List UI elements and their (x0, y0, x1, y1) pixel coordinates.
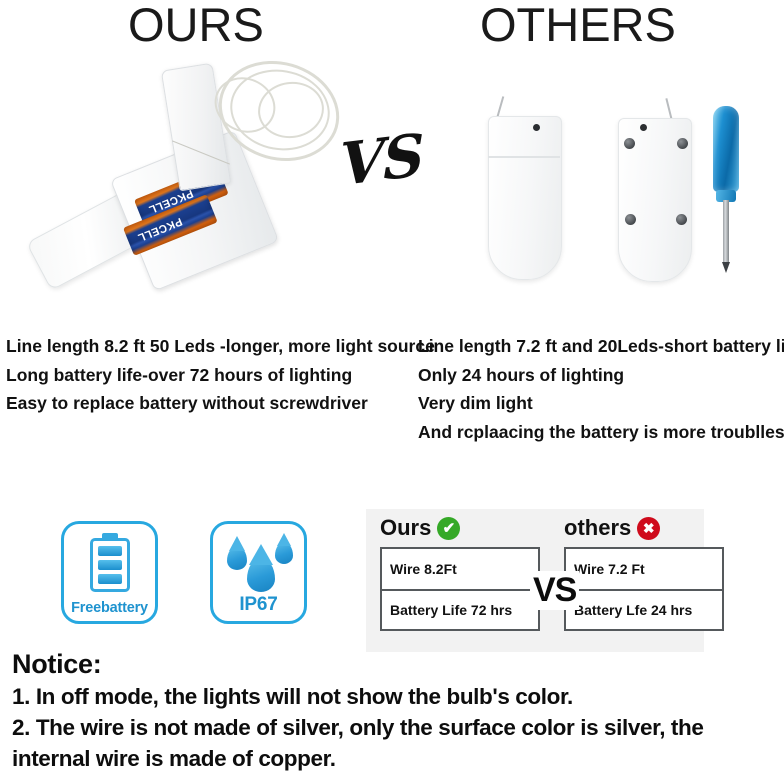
case-screw-bottom-left (625, 214, 636, 225)
feature-others-1: Line length 7.2 ft and 20Leds-short batt… (418, 332, 784, 361)
table-row: Wire 8.2Ft (382, 549, 538, 589)
comparison-others-label: others (564, 515, 631, 541)
case-screw-top-right (677, 138, 688, 149)
comparison-panel: Ours ✔ others ✖ Wire 8.2Ft Battery Life … (366, 509, 704, 652)
heading-others: OTHERS (480, 0, 676, 52)
water-drop-icon-right (275, 542, 293, 564)
feature-others-4: And rcplaacing the battery is more troub… (418, 418, 784, 447)
feature-list-ours: Line length 8.2 ft 50 Leds -longer, more… (6, 332, 435, 418)
battery-icon (90, 538, 130, 592)
heading-ours: OURS (128, 0, 264, 52)
product-photo-others (455, 86, 784, 321)
screwdriver-tip (722, 262, 730, 273)
badge-ip67-label: IP67 (213, 594, 304, 616)
vs-handwritten-label: VS (340, 121, 423, 199)
comparison-ours-label: Ours (380, 515, 431, 541)
comparison-table-others: Wire 7.2 Ft Battery Lfe 24 hrs (564, 547, 724, 631)
competitor-case-dot-2 (640, 124, 647, 131)
cross-icon: ✖ (637, 517, 660, 540)
battery-bar-3 (98, 574, 122, 584)
notice-title: Notice: (12, 648, 782, 681)
comparison-header-ours: Ours ✔ (380, 515, 460, 541)
case-screw-top-left (624, 138, 635, 149)
screwdriver-handle (713, 106, 739, 192)
feature-list-others: Line length 7.2 ft and 20Leds-short batt… (418, 332, 784, 446)
badge-freebattery: Freebattery (61, 521, 158, 624)
screwdriver-shaft (723, 200, 729, 264)
battery-bar-1 (98, 546, 122, 556)
feature-ours-1: Line length 8.2 ft 50 Leds -longer, more… (6, 332, 435, 361)
competitor-case-dot-1 (533, 124, 540, 131)
comparison-header-others: others ✖ (564, 515, 660, 541)
feature-ours-3: Easy to replace battery without screwdri… (6, 389, 435, 418)
notice-line-1: 1. In off mode, the lights will not show… (12, 681, 782, 712)
case-screw-bottom-right (676, 214, 687, 225)
table-row: Wire 7.2 Ft (566, 549, 722, 589)
feature-others-3: Very dim light (418, 389, 784, 418)
comparison-vs-label: VS (530, 571, 579, 610)
badge-freebattery-label: Freebattery (64, 600, 155, 616)
water-drop-icon-center (247, 558, 275, 592)
check-icon: ✔ (437, 517, 460, 540)
table-row: Battery Lfe 24 hrs (566, 589, 722, 629)
feature-others-2: Only 24 hours of lighting (418, 361, 784, 390)
water-drop-icon-left (227, 546, 247, 570)
competitor-case-seam (488, 156, 560, 158)
notice-line-2: 2. The wire is not made of silver, only … (12, 712, 782, 774)
table-row: Battery Life 72 hrs (382, 589, 538, 629)
feature-ours-2: Long battery life-over 72 hours of light… (6, 361, 435, 390)
badge-ip67: IP67 (210, 521, 307, 624)
competitor-wire-2 (665, 98, 672, 120)
notice-block: Notice: 1. In off mode, the lights will … (12, 648, 782, 774)
battery-bar-2 (98, 560, 122, 570)
product-photo-ours: PKCELL PKCELL (18, 48, 358, 320)
comparison-table-ours: Wire 8.2Ft Battery Life 72 hrs (380, 547, 540, 631)
competitor-case-1 (488, 116, 562, 280)
